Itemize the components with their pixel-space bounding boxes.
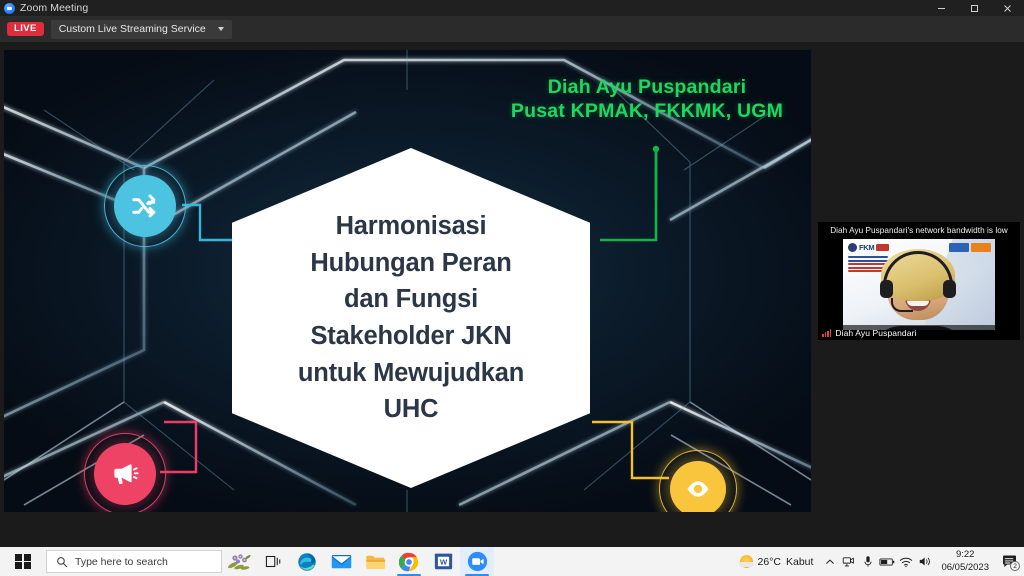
zoom-icon[interactable] [460,547,494,576]
slide-node-megaphone [84,433,166,512]
presentation-slide: Diah Ayu Puspandari Pusat KPMAK, FKKMK, … [4,50,811,512]
search-input[interactable]: Type here to search [46,550,222,573]
word-icon[interactable]: W [426,547,460,576]
text-line [848,270,884,272]
microphone-icon[interactable] [858,547,877,576]
title-line: dan Fungsi [261,281,561,318]
volume-icon[interactable] [915,547,934,576]
windows-taskbar: Type here to search [0,547,1024,576]
headset-microphone [891,298,913,312]
chevron-down-icon [218,27,224,31]
live-streaming-toolbar: LIVE Custom Live Streaming Service [0,16,1024,42]
camera-icon[interactable] [839,547,858,576]
participant-portrait [887,254,949,320]
close-button[interactable] [991,0,1024,16]
participant-name: Diah Ayu Puspandari [835,328,916,338]
presenter-credit: Diah Ayu Puspandari Pusat KPMAK, FKKMK, … [497,76,797,124]
sponsor-logos [949,243,991,252]
title-line: untuk Mewujudkan [261,355,561,392]
stream-service-label: Custom Live Streaming Service [59,23,206,35]
window-title-bar: Zoom Meeting [0,0,1024,16]
mail-icon[interactable] [324,547,358,576]
window-controls [925,0,1024,16]
video-feed: FKM [843,239,995,330]
shared-screen-area[interactable]: Diah Ayu Puspandari Pusat KPMAK, FKKMK, … [4,50,811,512]
slide-node-eye [659,450,737,512]
start-button[interactable] [0,547,46,576]
stream-service-dropdown[interactable]: Custom Live Streaming Service [51,20,232,39]
window-title: Zoom Meeting [20,2,88,14]
title-line: Stakeholder JKN [261,318,561,355]
slide-title: Harmonisasi Hubungan Peran dan Fungsi St… [261,208,561,428]
zoom-icon [4,3,15,14]
search-icon [56,556,68,568]
bandwidth-warning-banner: Diah Ayu Puspandari's network bandwidth … [818,222,1020,239]
cyan-connector-line [182,205,240,240]
node-ring [84,433,166,512]
search-placeholder: Type here to search [75,556,168,568]
title-line: Hubungan Peran [261,245,561,282]
university-seal-icon [848,243,857,252]
signal-bars-icon [822,329,831,337]
weather-condition: Kabut [786,556,813,568]
weather-widget[interactable]: 26°C Kabut [733,555,821,568]
zoom-meeting-window: Zoom Meeting LIVE Custom Live Streaming … [0,0,1024,576]
wifi-icon[interactable] [896,547,915,576]
yellow-connector-line [592,422,669,478]
minimize-button[interactable] [925,0,958,16]
fkm-logo-mark [876,244,889,251]
slide-node-shuffle [104,165,186,247]
file-explorer-icon[interactable] [358,547,392,576]
notification-center-button[interactable]: 2 [996,547,1022,576]
text-line [848,256,888,258]
participant-video-panel[interactable]: Diah Ayu Puspandari's network bandwidth … [818,222,1020,340]
maximize-button[interactable] [958,0,991,16]
live-status-badge: LIVE [7,22,44,37]
edge-icon[interactable] [290,547,324,576]
title-line: UHC [261,391,561,428]
weather-temperature: 26°C [758,556,781,568]
fkm-logo-text: FKM [859,243,874,252]
node-ring [659,450,737,512]
windows-start-icon [15,554,31,570]
system-tray: 26°C Kabut [733,547,1024,576]
participant-name-strip: Diah Ayu Puspandari [818,325,1020,340]
show-hidden-icons-button[interactable] [820,547,839,576]
widget-flower-icon[interactable] [222,552,256,572]
presenter-name: Diah Ayu Puspandari [497,76,797,100]
sponsor-logo [971,243,991,252]
sponsor-logo [949,243,969,252]
green-connector-line [600,146,659,240]
battery-icon[interactable] [877,547,896,576]
headset-earcup [880,280,893,298]
headset-earcup [943,280,956,298]
notification-count-badge: 2 [1010,561,1020,571]
clock[interactable]: 9:22 06/05/2023 [934,549,996,573]
weather-fog-icon [740,555,753,568]
svg-text:W: W [439,558,447,567]
task-view-icon[interactable] [256,547,290,576]
title-line: Harmonisasi [261,208,561,245]
presenter-affiliation: Pusat KPMAK, FKKMK, UGM [497,100,797,124]
clock-time: 9:22 [941,549,989,561]
node-ring [104,165,186,247]
clock-date: 06/05/2023 [941,562,989,574]
fkm-logo: FKM [848,243,889,252]
chrome-icon[interactable] [392,547,426,576]
